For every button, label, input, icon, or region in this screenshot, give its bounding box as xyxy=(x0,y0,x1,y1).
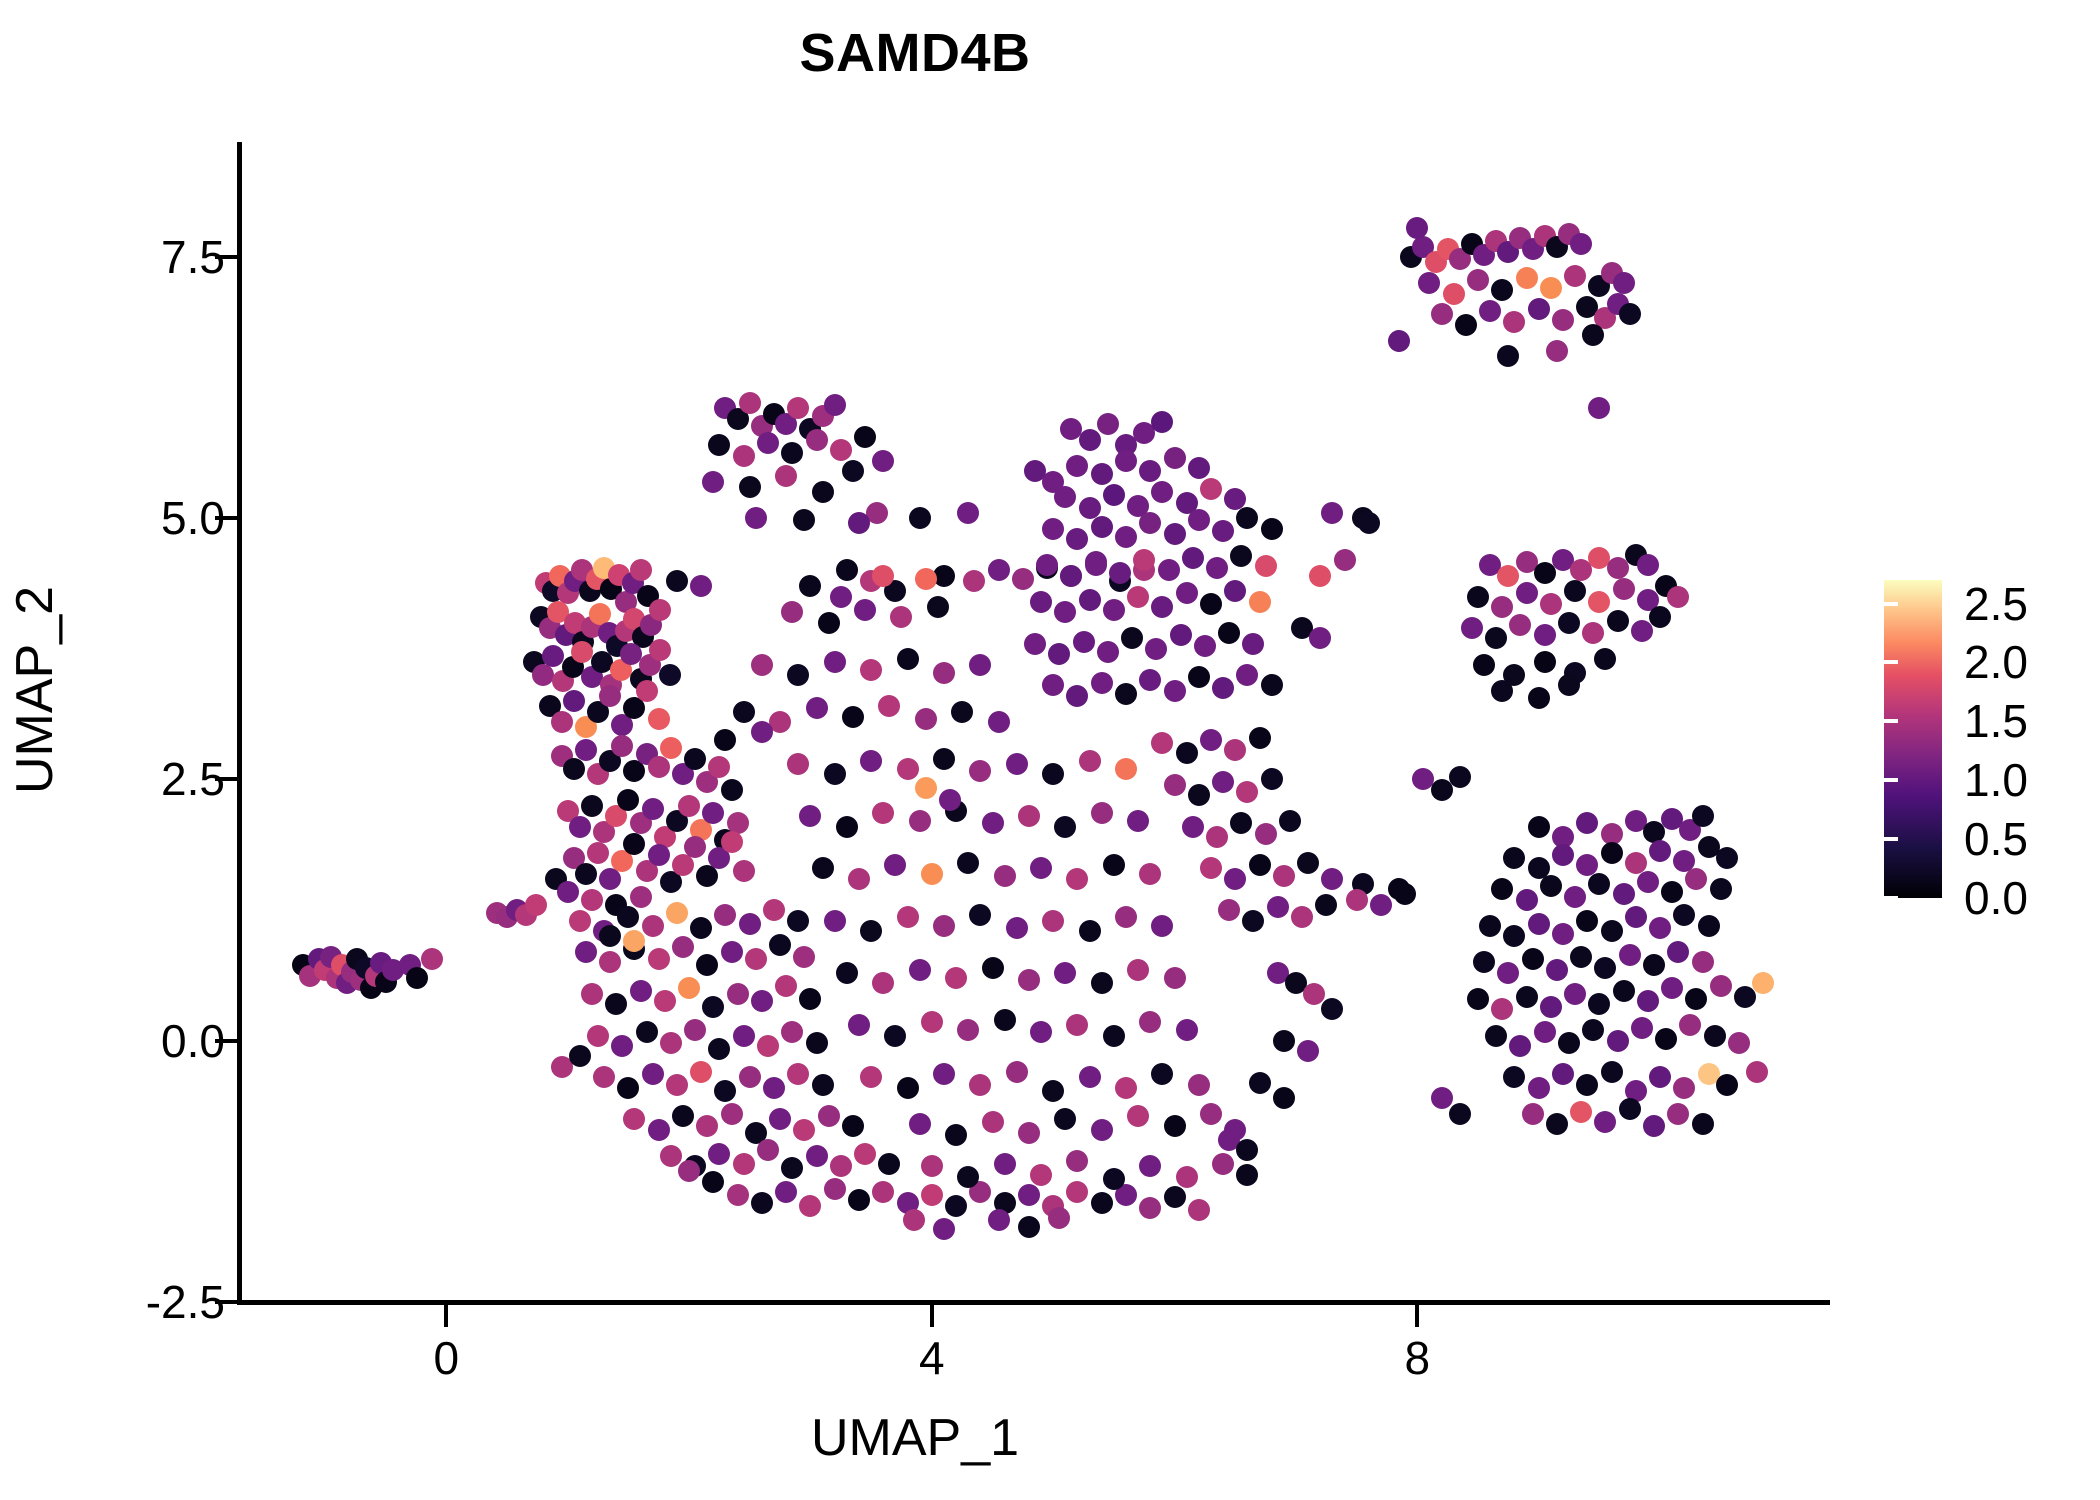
scatter-point xyxy=(1066,1014,1088,1036)
scatter-point xyxy=(751,721,773,743)
scatter-point xyxy=(1552,844,1574,866)
scatter-point xyxy=(1491,998,1513,1020)
colorbar-label: 2.0 xyxy=(1964,639,2028,685)
scatter-point xyxy=(1631,620,1653,642)
scatter-point xyxy=(927,596,949,618)
scatter-point xyxy=(860,1066,882,1088)
scatter-point xyxy=(799,1195,821,1217)
scatter-point xyxy=(654,990,676,1012)
scatter-point xyxy=(781,601,803,623)
scatter-point xyxy=(1273,865,1295,887)
scatter-point xyxy=(860,750,882,772)
scatter-point xyxy=(1249,727,1271,749)
scatter-point xyxy=(1321,502,1343,524)
scatter-point xyxy=(1127,586,1149,608)
scatter-point xyxy=(1267,896,1289,918)
scatter-point xyxy=(702,802,724,824)
scatter-point xyxy=(721,941,743,963)
scatter-point xyxy=(957,1166,979,1188)
scatter-point xyxy=(963,570,985,592)
scatter-point xyxy=(1115,450,1137,472)
scatter-point xyxy=(1643,1115,1665,1137)
scatter-point xyxy=(1655,1028,1677,1050)
scatter-point xyxy=(884,854,906,876)
scatter-point xyxy=(1588,993,1610,1015)
scatter-point xyxy=(1309,627,1331,649)
scatter-point xyxy=(714,904,736,926)
scatter-point xyxy=(1728,1032,1750,1054)
scatter-point xyxy=(659,664,681,686)
scatter-point xyxy=(1619,944,1641,966)
scatter-point xyxy=(818,1105,840,1127)
colorbar-tick-mark xyxy=(2070,660,2084,664)
scatter-point xyxy=(969,760,991,782)
scatter-point xyxy=(1188,666,1210,688)
scatter-point xyxy=(793,1119,815,1141)
scatter-point xyxy=(1491,279,1513,301)
scatter-point xyxy=(1066,528,1088,550)
scatter-point xyxy=(1528,298,1550,320)
scatter-point xyxy=(933,748,955,770)
scatter-point xyxy=(751,990,773,1012)
colorbar-tick-mark xyxy=(1884,778,1898,782)
scatter-point xyxy=(1582,324,1604,346)
scatter-point xyxy=(1449,1103,1471,1125)
scatter-point xyxy=(1594,1111,1616,1133)
scatter-point xyxy=(897,648,919,670)
scatter-point xyxy=(1151,1063,1173,1085)
scatter-point xyxy=(799,575,821,597)
scatter-point xyxy=(1030,857,1052,879)
scatter-point xyxy=(1115,1077,1137,1099)
scatter-point xyxy=(969,1074,991,1096)
scatter-point xyxy=(781,1021,803,1043)
scatter-point xyxy=(1685,868,1707,890)
colorbar-tick-mark xyxy=(2070,896,2084,900)
scatter-point xyxy=(1297,852,1319,874)
scatter-point xyxy=(775,1181,797,1203)
scatter-point xyxy=(909,1113,931,1135)
colorbar-tick-mark xyxy=(1884,719,1898,723)
scatter-point xyxy=(1066,455,1088,477)
scatter-point xyxy=(1576,910,1598,932)
scatter-point xyxy=(593,1066,615,1088)
scatter-point xyxy=(569,910,591,932)
scatter-point xyxy=(1103,1025,1125,1047)
scatter-point xyxy=(1716,847,1738,869)
scatter-point xyxy=(678,1160,700,1182)
scatter-point xyxy=(921,863,943,885)
scatter-point xyxy=(1503,925,1525,947)
scatter-point xyxy=(1151,915,1173,937)
scatter-point xyxy=(733,445,755,467)
scatter-point xyxy=(1151,411,1173,433)
scatter-point xyxy=(727,983,749,1005)
scatter-point xyxy=(763,899,785,921)
scatter-point xyxy=(1091,516,1113,538)
scatter-point xyxy=(921,1184,943,1206)
scatter-point xyxy=(1431,779,1453,801)
scatter-point xyxy=(1206,826,1228,848)
scatter-point xyxy=(678,795,700,817)
scatter-point xyxy=(1182,547,1204,569)
scatter-point xyxy=(1139,1197,1161,1219)
scatter-point xyxy=(1291,906,1313,928)
scatter-point xyxy=(1303,983,1325,1005)
scatter-point xyxy=(1315,894,1337,916)
scatter-point xyxy=(1692,951,1714,973)
scatter-point xyxy=(1079,1066,1101,1088)
scatter-point xyxy=(787,397,809,419)
scatter-point xyxy=(781,442,803,464)
scatter-point xyxy=(872,1181,894,1203)
scatter-point xyxy=(836,962,858,984)
scatter-point xyxy=(569,1045,591,1067)
scatter-point xyxy=(1710,878,1732,900)
x-axis-title: UMAP_1 xyxy=(0,1408,1830,1468)
scatter-point xyxy=(1188,784,1210,806)
scatter-point xyxy=(739,392,761,414)
scatter-point xyxy=(860,920,882,942)
scatter-point xyxy=(1188,1074,1210,1096)
scatter-point xyxy=(1534,1021,1556,1043)
scatter-point xyxy=(642,915,664,937)
scatter-point xyxy=(569,816,591,838)
scatter-point xyxy=(1164,1186,1186,1208)
scatter-point xyxy=(1516,986,1538,1008)
scatter-point xyxy=(1255,823,1277,845)
y-tick-label: -2.5 xyxy=(146,1279,225,1325)
scatter-point xyxy=(581,795,603,817)
scatter-point xyxy=(933,1063,955,1085)
scatter-point xyxy=(1218,622,1240,644)
scatter-point xyxy=(708,1143,730,1165)
scatter-point xyxy=(860,659,882,681)
scatter-point xyxy=(1528,816,1550,838)
y-tick-label: 2.5 xyxy=(161,756,225,802)
scatter-point xyxy=(1079,429,1101,451)
scatter-point xyxy=(557,881,579,903)
scatter-point xyxy=(672,936,694,958)
scatter-point xyxy=(1534,624,1556,646)
scatter-point xyxy=(1528,687,1550,709)
scatter-point xyxy=(1358,512,1380,534)
scatter-point xyxy=(684,1019,706,1041)
scatter-point xyxy=(1164,967,1186,989)
scatter-point xyxy=(1667,941,1689,963)
scatter-point xyxy=(1491,680,1513,702)
scatter-point xyxy=(1467,988,1489,1010)
scatter-point xyxy=(630,886,652,908)
scatter-point xyxy=(1588,873,1610,895)
scatter-point xyxy=(982,957,1004,979)
scatter-point xyxy=(884,1025,906,1047)
scatter-point xyxy=(1212,771,1234,793)
scatter-point xyxy=(1497,962,1519,984)
scatter-point xyxy=(1576,1074,1598,1096)
scatter-point xyxy=(982,1111,1004,1133)
scatter-point xyxy=(806,697,828,719)
scatter-point xyxy=(957,852,979,874)
scatter-point xyxy=(988,559,1010,581)
scatter-point xyxy=(1054,1108,1076,1130)
scatter-point xyxy=(787,1063,809,1085)
scatter-point xyxy=(854,1143,876,1165)
scatter-point xyxy=(1479,915,1501,937)
scatter-point xyxy=(1139,512,1161,534)
scatter-point xyxy=(1588,591,1610,613)
scatter-point xyxy=(1594,957,1616,979)
scatter-point xyxy=(733,860,755,882)
scatter-point xyxy=(1297,1040,1319,1062)
scatter-point xyxy=(1200,478,1222,500)
scatter-point xyxy=(1637,554,1659,576)
scatter-point xyxy=(824,910,846,932)
scatter-point xyxy=(636,1021,658,1043)
scatter-point xyxy=(1546,1113,1568,1135)
scatter-point xyxy=(733,1153,755,1175)
scatter-point xyxy=(1115,758,1137,780)
scatter-point xyxy=(1637,871,1659,893)
scatter-point xyxy=(824,763,846,785)
scatter-point xyxy=(1139,1011,1161,1033)
scatter-point xyxy=(1473,951,1495,973)
scatter-point xyxy=(945,1124,967,1146)
scatter-point xyxy=(1103,484,1125,506)
scatter-point xyxy=(1139,1155,1161,1177)
scatter-point xyxy=(1607,610,1629,632)
scatter-point xyxy=(775,975,797,997)
scatter-point xyxy=(1546,959,1568,981)
scatter-point xyxy=(1594,648,1616,670)
scatter-point xyxy=(666,1074,688,1096)
scatter-point xyxy=(611,735,633,757)
scatter-point xyxy=(1309,565,1331,587)
scatter-point xyxy=(1607,557,1629,579)
scatter-point xyxy=(763,1077,785,1099)
scatter-point xyxy=(1582,622,1604,644)
scatter-point xyxy=(1109,562,1131,584)
scatter-point xyxy=(812,481,834,503)
scatter-point xyxy=(836,559,858,581)
scatter-point xyxy=(660,1145,682,1167)
scatter-point xyxy=(708,434,730,456)
scatter-point xyxy=(1164,447,1186,469)
scatter-point xyxy=(1601,1061,1623,1083)
scatter-point xyxy=(1698,915,1720,937)
scatter-point xyxy=(733,701,755,723)
scatter-point xyxy=(1127,959,1149,981)
scatter-point xyxy=(1200,729,1222,751)
scatter-point xyxy=(775,465,797,487)
scatter-point xyxy=(1491,596,1513,618)
scatter-point xyxy=(1704,1025,1726,1047)
scatter-point xyxy=(714,1080,736,1102)
x-tick-label: 0 xyxy=(434,1335,460,1381)
scatter-point xyxy=(1139,863,1161,885)
scatter-point xyxy=(648,756,670,778)
scatter-point xyxy=(1619,1098,1641,1120)
scatter-point xyxy=(909,507,931,529)
scatter-point xyxy=(623,1108,645,1130)
scatter-point xyxy=(1497,565,1519,587)
scatter-point xyxy=(1139,669,1161,691)
scatter-point xyxy=(1182,816,1204,838)
scatter-point xyxy=(1085,551,1107,573)
scatter-point xyxy=(915,568,937,590)
scatter-point xyxy=(1236,507,1258,529)
scatter-point xyxy=(824,394,846,416)
scatter-point xyxy=(799,988,821,1010)
scatter-point xyxy=(648,844,670,866)
scatter-point xyxy=(1127,810,1149,832)
scatter-point xyxy=(599,951,621,973)
scatter-point xyxy=(1370,894,1392,916)
scatter-point xyxy=(1164,774,1186,796)
scatter-point xyxy=(824,1178,846,1200)
scatter-point xyxy=(1449,766,1471,788)
scatter-point xyxy=(1321,868,1343,890)
scatter-point xyxy=(1176,582,1198,604)
scatter-point xyxy=(1685,988,1707,1010)
scatter-point xyxy=(745,948,767,970)
scatter-point xyxy=(1540,875,1562,897)
scatter-point xyxy=(793,509,815,531)
scatter-point xyxy=(1151,732,1173,754)
scatter-point xyxy=(1176,1166,1198,1188)
scatter-point xyxy=(406,967,428,989)
scatter-point xyxy=(1188,457,1210,479)
scatter-point xyxy=(1079,589,1101,611)
scatter-point xyxy=(1170,624,1192,646)
scatter-point xyxy=(611,1035,633,1057)
scatter-point xyxy=(1528,913,1550,935)
scatter-point xyxy=(994,1009,1016,1031)
scatter-point xyxy=(1030,1021,1052,1043)
scatter-point xyxy=(812,857,834,879)
scatter-point xyxy=(1564,265,1586,287)
scatter-point xyxy=(1115,526,1137,548)
scatter-point xyxy=(1516,267,1538,289)
scatter-point xyxy=(1212,1153,1234,1175)
y-tick-label: 5.0 xyxy=(161,495,225,541)
scatter-point xyxy=(1024,633,1046,655)
scatter-point xyxy=(830,586,852,608)
scatter-point xyxy=(571,641,593,663)
scatter-point xyxy=(648,708,670,730)
scatter-point xyxy=(854,426,876,448)
scatter-point xyxy=(1564,580,1586,602)
scatter-point xyxy=(739,476,761,498)
colorbar-tick-mark xyxy=(1884,660,1898,664)
scatter-point xyxy=(1473,654,1495,676)
scatter-point xyxy=(1188,509,1210,531)
scatter-point xyxy=(1194,635,1216,657)
scatter-point xyxy=(890,606,912,628)
scatter-point xyxy=(630,559,652,581)
scatter-point xyxy=(1188,1199,1210,1221)
scatter-point xyxy=(957,502,979,524)
scatter-point xyxy=(933,915,955,937)
colorbar-label: 0.5 xyxy=(1964,816,2028,862)
scatter-point xyxy=(1255,555,1277,577)
scatter-point xyxy=(690,917,712,939)
scatter-point xyxy=(581,983,603,1005)
scatter-point xyxy=(1528,1077,1550,1099)
scatter-point xyxy=(1073,631,1095,653)
scatter-point xyxy=(1467,586,1489,608)
scatter-point xyxy=(696,954,718,976)
scatter-point xyxy=(1054,962,1076,984)
scatter-point xyxy=(1006,917,1028,939)
scatter-point xyxy=(672,1105,694,1127)
colorbar-tick-mark xyxy=(2070,719,2084,723)
scatter-point xyxy=(1576,812,1598,834)
scatter-point xyxy=(1103,854,1125,876)
scatter-point xyxy=(903,1209,925,1231)
scatter-point xyxy=(836,816,858,838)
scatter-point xyxy=(757,1139,779,1161)
scatter-point xyxy=(721,1103,743,1125)
scatter-point xyxy=(1066,868,1088,890)
scatter-point xyxy=(1042,518,1064,540)
scatter-point xyxy=(1230,812,1252,834)
scatter-point xyxy=(563,758,585,780)
scatter-point xyxy=(1054,601,1076,623)
scatter-point xyxy=(1540,277,1562,299)
plot-panel xyxy=(240,142,1830,1302)
scatter-point xyxy=(872,450,894,472)
scatter-point xyxy=(1054,816,1076,838)
scatter-point xyxy=(1006,1061,1028,1083)
scatter-point xyxy=(1546,340,1568,362)
scatter-point xyxy=(684,836,706,858)
y-tick-label: 0.0 xyxy=(161,1018,225,1064)
scatter-point xyxy=(793,946,815,968)
scatter-point xyxy=(1540,593,1562,615)
scatter-point xyxy=(1321,998,1343,1020)
scatter-point xyxy=(915,708,937,730)
scatter-point xyxy=(684,748,706,770)
colorbar-label: 2.5 xyxy=(1964,581,2028,627)
scatter-point xyxy=(1503,1066,1525,1088)
scatter-point xyxy=(757,432,779,454)
scatter-point xyxy=(421,948,443,970)
scatter-point xyxy=(1176,742,1198,764)
scatter-point xyxy=(1497,345,1519,367)
scatter-point xyxy=(1516,582,1538,604)
y-axis-title: UMAP_2 xyxy=(5,340,65,1040)
scatter-point xyxy=(575,739,597,761)
scatter-point xyxy=(1570,946,1592,968)
scatter-point xyxy=(842,706,864,728)
scatter-point xyxy=(830,1155,852,1177)
scatter-point xyxy=(581,889,603,911)
scatter-point xyxy=(551,711,573,733)
scatter-point xyxy=(1752,972,1774,994)
scatter-point xyxy=(1097,413,1119,435)
scatter-point xyxy=(733,1025,755,1047)
scatter-point xyxy=(1097,641,1119,663)
scatter-point xyxy=(969,904,991,926)
scatter-point xyxy=(1103,1168,1125,1190)
scatter-point xyxy=(1607,1030,1629,1052)
scatter-point xyxy=(1661,977,1683,999)
scatter-point xyxy=(1006,753,1028,775)
scatter-point xyxy=(721,831,743,853)
scatter-point xyxy=(1692,1113,1714,1135)
scatter-point xyxy=(1273,1030,1295,1052)
